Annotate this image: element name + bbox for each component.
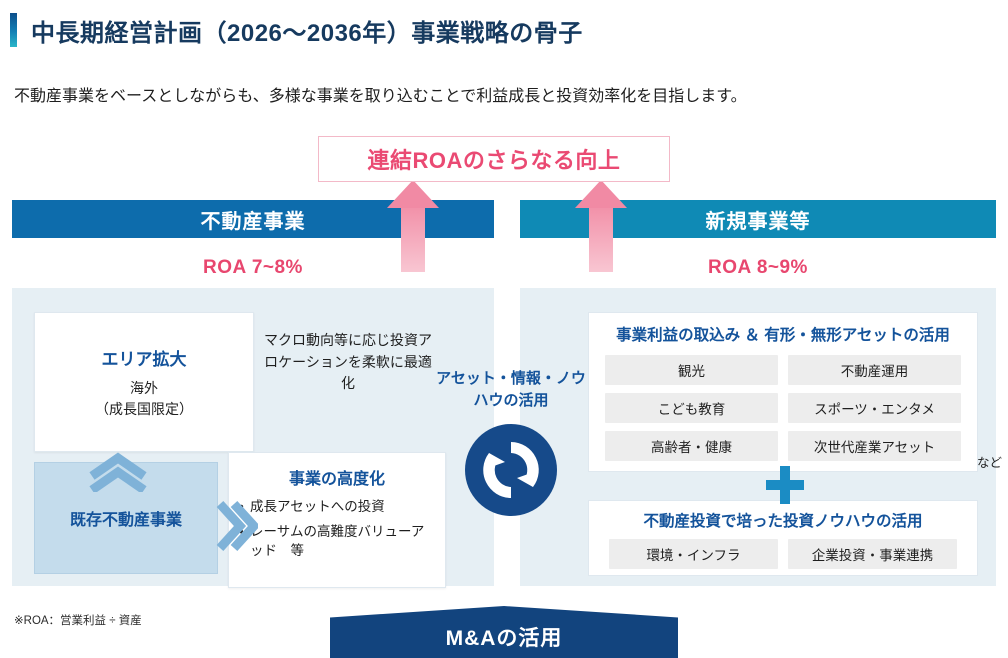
- area-expansion-line1: 海外: [130, 378, 158, 398]
- list-item: レーサムの高難度バリューアッド 等: [239, 522, 435, 561]
- title-accent-bar: [10, 13, 17, 47]
- area-expansion-line2: （成長国限定）: [95, 399, 193, 419]
- cycle-icon: [463, 422, 559, 518]
- profit-tag-grid: 観光 不動産運用 こども教育 スポーツ・エンタメ 高齢者・健康 次世代産業アセッ…: [589, 345, 977, 461]
- ma-banner-label: M&Aの活用: [446, 622, 563, 658]
- box-profit-and-asset-utilization: 事業利益の取込み ＆ 有形・無形アセットの活用 観光 不動産運用 こども教育 ス…: [588, 312, 978, 472]
- box-investment-knowhow: 不動産投資で培った投資ノウハウの活用 環境・インフラ 企業投資・事業連携: [588, 500, 978, 576]
- profit-block-title: 事業利益の取込み ＆ 有形・無形アセットの活用: [589, 323, 977, 345]
- business-advancement-title: 事業の高度化: [239, 465, 435, 489]
- page-subtitle: 不動産事業をベースとしながらも、多様な事業を取り込むことで利益成長と投資効率化を…: [14, 82, 747, 106]
- tag-item: 不動産運用: [788, 355, 961, 385]
- chevron-up-icon: [88, 452, 148, 497]
- macro-allocation-note: マクロ動向等に応じ投資アロケーションを柔軟に最適化: [262, 330, 434, 395]
- knowhow-block-title: 不動産投資で培った投資ノウハウの活用: [589, 509, 977, 531]
- business-advancement-list: 成長アセットへの投資 レーサムの高難度バリューアッド 等: [239, 497, 435, 561]
- page-title: 中長期経営計画（2026〜2036年）事業戦略の骨子: [31, 13, 583, 48]
- chevron-right-icon: [214, 498, 258, 559]
- tag-item: 高齢者・健康: [605, 431, 778, 461]
- tag-item: 環境・インフラ: [609, 539, 778, 569]
- tag-item: 企業投資・事業連携: [788, 539, 957, 569]
- center-caption: アセット・情報・ノウハウの活用: [436, 368, 586, 412]
- list-item: 成長アセットへの投資: [239, 497, 435, 517]
- tag-item: スポーツ・エンタメ: [788, 393, 961, 423]
- tag-item: 観光: [605, 355, 778, 385]
- slide-root: 中長期経営計画（2026〜2036年）事業戦略の骨子 不動産事業をベースとしなが…: [0, 0, 1008, 658]
- roa-improvement-callout: 連結ROAのさらなる向上: [318, 136, 670, 182]
- ma-utilization-banner: M&Aの活用: [330, 606, 678, 658]
- box-business-advancement: 事業の高度化 成長アセットへの投資 レーサムの高難度バリューアッド 等: [228, 452, 446, 588]
- box-area-expansion: エリア拡大 海外 （成長国限定）: [34, 312, 254, 452]
- center-asset-sharing: アセット・情報・ノウハウの活用: [436, 368, 586, 518]
- existing-business-label: 既存不動産事業: [70, 506, 182, 530]
- tag-item: こども教育: [605, 393, 778, 423]
- plus-icon: [766, 466, 804, 504]
- footnote-roa-definition: ※ROA：営業利益 ÷ 資産: [14, 612, 142, 628]
- area-expansion-title: エリア拡大: [102, 345, 187, 370]
- knowhow-tag-grid: 環境・インフラ 企業投資・事業連携: [589, 531, 977, 569]
- profit-block-suffix: など: [977, 452, 1002, 471]
- page-title-row: 中長期経営計画（2026〜2036年）事業戦略の骨子: [0, 10, 583, 50]
- tag-item: 次世代産業アセット: [788, 431, 961, 461]
